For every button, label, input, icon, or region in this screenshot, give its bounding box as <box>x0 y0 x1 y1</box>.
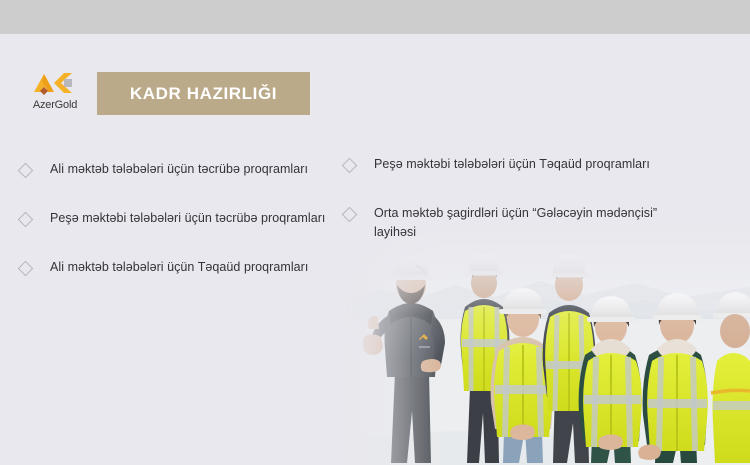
page-title: KADR HAZIRLIĞI <box>130 84 277 104</box>
diamond-bullet-icon <box>342 207 358 223</box>
slide-title-banner: KADR HAZIRLIĞI <box>97 72 310 115</box>
list-item-label: Ali məktəb tələbələri üçün Təqaüd proqra… <box>50 258 336 277</box>
list-item: Ali məktəb tələbələri üçün təcrübə proqr… <box>16 160 336 179</box>
azergold-logo-icon <box>31 70 79 96</box>
top-bar <box>0 0 750 34</box>
list-item-label: Ali məktəb tələbələri üçün təcrübə proqr… <box>50 160 336 179</box>
list-item: Peşə məktəbi tələbələri üçün təcrübə pro… <box>16 209 336 228</box>
diamond-bullet-icon <box>342 158 358 174</box>
diamond-bullet-icon <box>18 212 34 228</box>
list-item: Orta məktəb şagirdləri üçün “Gələcəyin m… <box>340 204 670 242</box>
diamond-bullet-icon <box>18 261 34 277</box>
list-item-label: Peşə məktəbi tələbələri üçün təcrübə pro… <box>50 209 336 228</box>
list-item-label: Orta məktəb şagirdləri üçün “Gələcəyin m… <box>374 204 670 242</box>
brand-name: AzerGold <box>24 99 86 111</box>
bullet-column-left: Ali məktəb tələbələri üçün təcrübə proqr… <box>16 160 336 307</box>
list-item: Peşə məktəbi tələbələri üçün Təqaüd proq… <box>340 155 670 174</box>
diamond-bullet-icon <box>18 163 34 179</box>
list-item: Ali məktəb tələbələri üçün Təqaüd proqra… <box>16 258 336 277</box>
list-item-label: Peşə məktəbi tələbələri üçün Təqaüd proq… <box>374 155 670 174</box>
bullet-column-right: Peşə məktəbi tələbələri üçün Təqaüd proq… <box>340 155 670 272</box>
slide-canvas: AzerGold KADR HAZIRLIĞI Ali məktəb tələb… <box>0 0 750 465</box>
brand-logo: AzerGold <box>24 70 86 111</box>
